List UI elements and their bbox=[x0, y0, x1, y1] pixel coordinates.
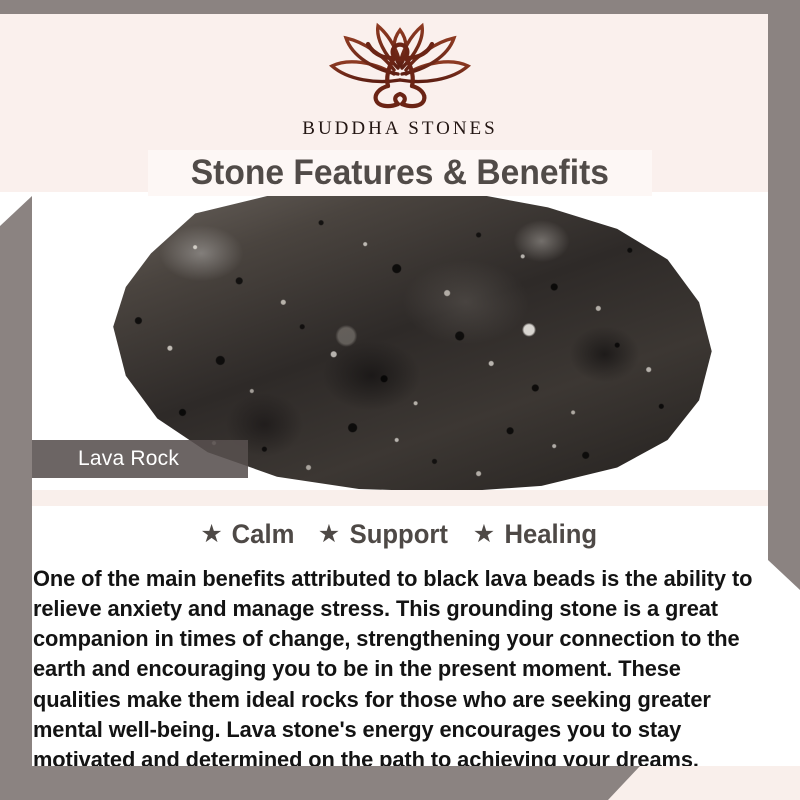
brand-name: BUDDHA STONES bbox=[302, 118, 497, 140]
lotus-meditation-icon bbox=[314, 22, 486, 114]
benefits-list: ★ Calm ★ Support ★ Healing bbox=[0, 519, 800, 550]
benefit-item: ★ Calm bbox=[200, 519, 295, 550]
description-text: One of the main benefits attributed to b… bbox=[33, 564, 759, 775]
divider bbox=[0, 490, 800, 506]
benefit-label: Healing bbox=[505, 519, 598, 550]
benefit-label: Calm bbox=[231, 519, 294, 550]
photo-caption-band: Lava Rock bbox=[0, 440, 248, 478]
title-band: Stone Features & Benefits bbox=[148, 150, 652, 196]
frame-left-bar bbox=[0, 196, 32, 800]
star-icon: ★ bbox=[473, 522, 495, 547]
brand-logo: BUDDHA STONES bbox=[0, 22, 800, 140]
poster: BUDDHA STONES Stone Features & Benefits … bbox=[0, 0, 800, 800]
frame-right-bar bbox=[768, 14, 800, 590]
page-title: Stone Features & Benefits bbox=[191, 153, 609, 193]
frame-top-bar bbox=[0, 0, 800, 14]
benefit-item: ★ Support bbox=[318, 519, 451, 550]
benefit-item: ★ Healing bbox=[473, 519, 600, 550]
content-area: ★ Calm ★ Support ★ Healing One of the ma… bbox=[0, 506, 800, 766]
benefit-label: Support bbox=[350, 519, 448, 550]
frame-bottom-bar bbox=[0, 766, 640, 800]
header: BUDDHA STONES Stone Features & Benefits bbox=[0, 14, 800, 192]
lava-rock-photo: Lava Rock bbox=[0, 192, 800, 490]
star-icon: ★ bbox=[200, 522, 222, 547]
star-icon: ★ bbox=[318, 522, 340, 547]
